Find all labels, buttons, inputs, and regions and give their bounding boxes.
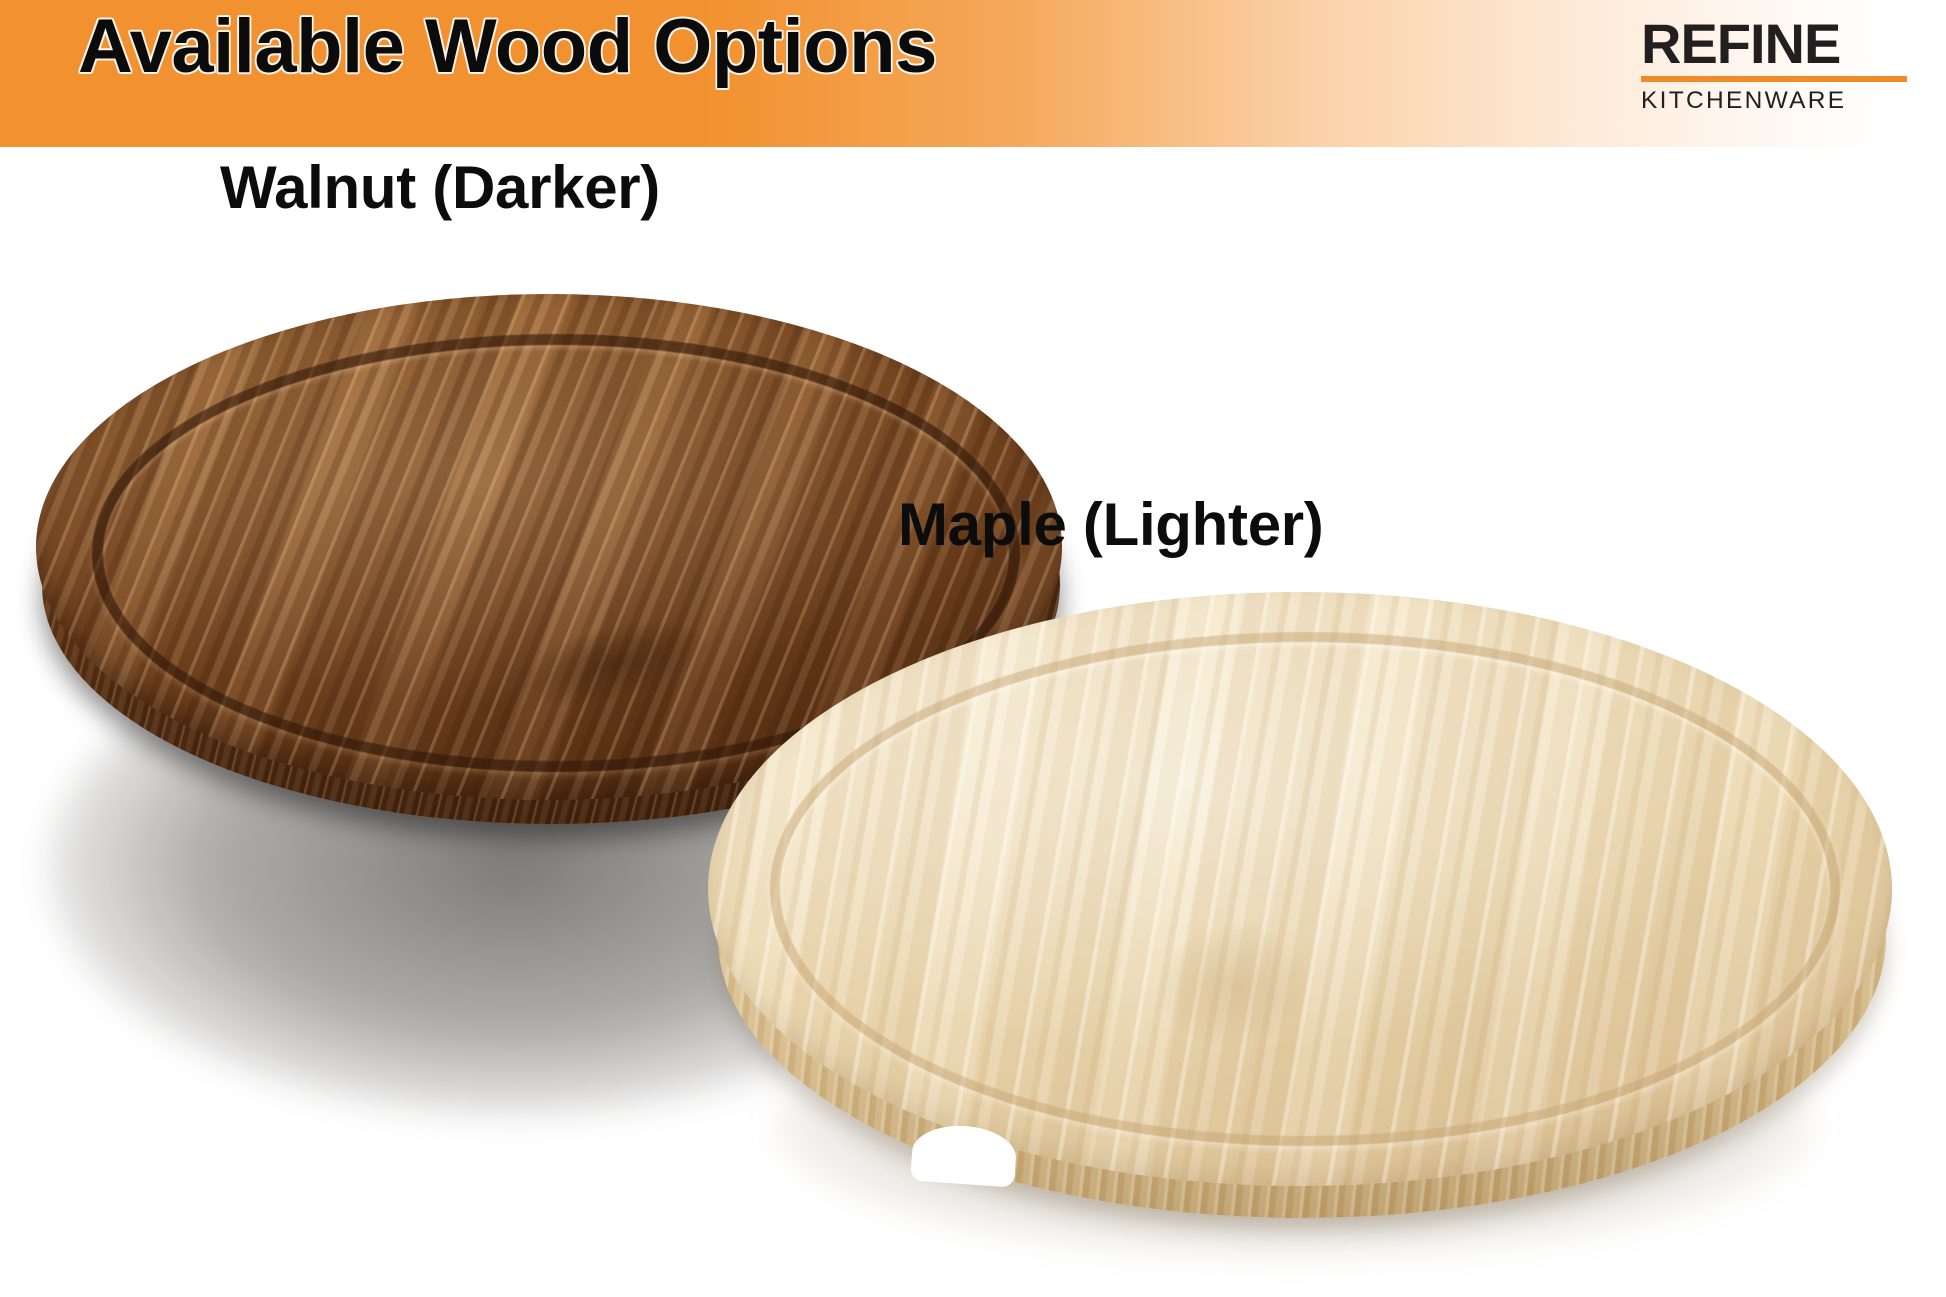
header-banner: Available Wood Options REFINE KITCHENWAR…: [0, 0, 1946, 147]
wood-option-label-maple: Maple (Lighter): [898, 495, 1324, 555]
maple-juice-groove: [770, 632, 1840, 1146]
wood-option-label-walnut: Walnut (Darker): [220, 158, 660, 218]
page-title: Available Wood Options: [78, 9, 937, 85]
logo-divider-rule: [1641, 76, 1907, 82]
product-image-maple-board: [702, 586, 1902, 1248]
brand-logo: REFINE KITCHENWARE: [1641, 17, 1913, 113]
maple-board-top-surface: [708, 592, 1892, 1186]
logo-tagline-text: KITCHENWARE: [1641, 89, 1913, 114]
logo-brand-text: REFINE: [1641, 17, 1913, 72]
